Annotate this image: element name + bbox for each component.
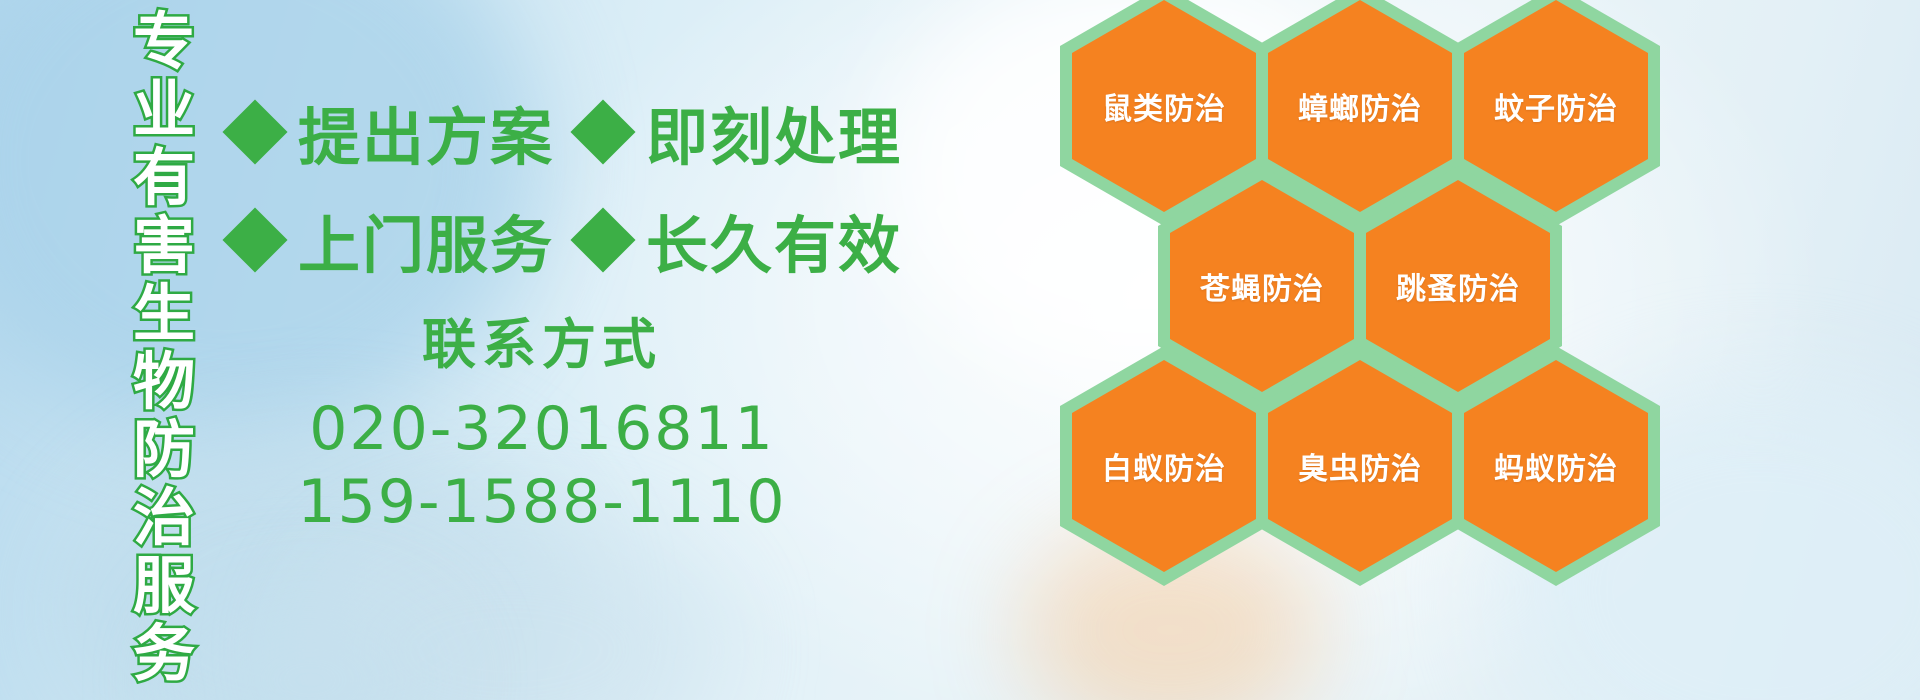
- vertical-title: 专 业 有 害 生 物 防 治 服 务: [104, 8, 224, 568]
- contact-phone-landline[interactable]: 020-32016811: [232, 393, 852, 466]
- service-hex-ant[interactable]: 蚂蚁防治: [1452, 346, 1660, 586]
- service-hex-bedbug[interactable]: 臭虫防治: [1256, 346, 1464, 586]
- service-label: 蚊子防治: [1494, 84, 1618, 128]
- feature-item: 即刻处理: [580, 87, 902, 177]
- service-label: 白蚁防治: [1102, 444, 1226, 488]
- diamond-icon: [570, 99, 635, 164]
- background-blob: [300, 520, 720, 700]
- vertical-title-char: 业: [133, 76, 195, 144]
- background-blob: [180, 600, 440, 700]
- service-hex-termite[interactable]: 白蚁防治: [1060, 346, 1268, 586]
- vertical-title-char: 务: [133, 620, 195, 688]
- vertical-title-char: 生: [133, 280, 195, 348]
- vertical-title-char: 有: [133, 144, 195, 212]
- vertical-title-char: 物: [133, 348, 195, 416]
- feature-label: 上门服务: [298, 195, 554, 285]
- feature-label: 即刻处理: [646, 87, 902, 177]
- vertical-title-char: 害: [133, 212, 195, 280]
- service-label: 苍蝇防治: [1200, 264, 1324, 308]
- diamond-icon: [222, 99, 287, 164]
- vertical-title-char: 服: [133, 552, 195, 620]
- feature-row: 上门服务 长久有效: [232, 186, 902, 294]
- feature-list: 提出方案 即刻处理 上门服务 长久有效: [232, 78, 902, 294]
- service-label: 鼠类防治: [1102, 84, 1226, 128]
- contact-block: 联系方式 020-32016811 159-1588-1110: [232, 300, 852, 539]
- diamond-icon: [570, 207, 635, 272]
- diamond-icon: [222, 207, 287, 272]
- feature-label: 提出方案: [298, 87, 554, 177]
- service-label: 蟑螂防治: [1298, 84, 1422, 128]
- feature-label: 长久有效: [646, 195, 902, 285]
- vertical-title-char: 防: [133, 416, 195, 484]
- vertical-title-char: 专: [133, 8, 195, 76]
- service-hex-grid: 鼠类防治 蟑螂防治 蚊子防治 苍蝇防治 跳蚤防治: [1060, 0, 1680, 606]
- contact-phone-mobile[interactable]: 159-1588-1110: [232, 466, 852, 539]
- promo-banner: 专 业 有 害 生 物 防 治 服 务 提出方案 即刻处理 上门服务: [0, 0, 1920, 700]
- feature-row: 提出方案 即刻处理: [232, 78, 902, 186]
- contact-label: 联系方式: [232, 300, 852, 379]
- service-label: 跳蚤防治: [1396, 264, 1520, 308]
- feature-item: 长久有效: [580, 195, 902, 285]
- vertical-title-char: 治: [133, 484, 195, 552]
- service-label: 臭虫防治: [1298, 444, 1422, 488]
- feature-item: 上门服务: [232, 195, 554, 285]
- service-label: 蚂蚁防治: [1494, 444, 1618, 488]
- feature-item: 提出方案: [232, 87, 554, 177]
